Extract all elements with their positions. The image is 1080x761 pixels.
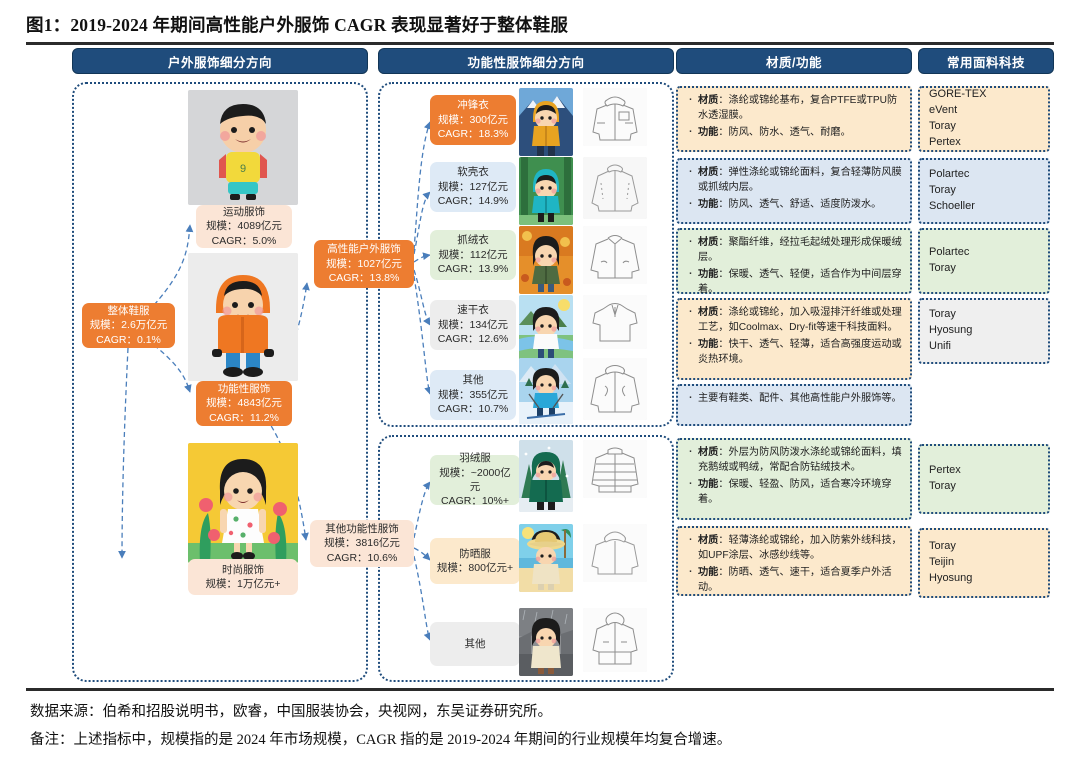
material-card-other: 主要有鞋类、配件、其他高性能户外服饰等。 <box>676 384 912 426</box>
sketch-softshell-jacket <box>583 157 647 219</box>
material-item: 材质：涤纶或锦纶，加入吸湿排汗纤维或处理工艺，如Coolmax、Dry-fit等… <box>686 306 903 335</box>
sketch-sun-protection-jacket <box>583 524 647 582</box>
brand: Unifi <box>929 339 1039 355</box>
material-list: 材质：涤纶或锦纶，加入吸湿排汗纤维或处理工艺，如Coolmax、Dry-fit等… <box>686 306 903 368</box>
node-scale: 规模：800亿元+ <box>437 561 513 575</box>
node-scale: 规模：134亿元 <box>438 318 508 332</box>
node-cagr: CAGR：11.2% <box>209 411 279 425</box>
brand: Toray <box>929 479 1039 495</box>
node-title: 运动服饰 <box>223 205 265 219</box>
node-cagr: CAGR：10.7% <box>438 402 509 416</box>
material-item: 材质：聚酯纤维，经拉毛起绒处理形成保暖绒层。 <box>686 236 903 265</box>
column-header-fabric-tech: 常用面料科技 <box>918 48 1054 74</box>
material-item: 材质：弹性涤纶或锦纶面料，复合轻薄防风膜或抓绒内层。 <box>686 166 903 195</box>
tech-card-hardshell: GORE-TEX eVent Toray Pertex <box>918 86 1050 152</box>
brand: Pertex <box>929 463 1039 479</box>
brand: Teijin <box>929 555 1039 571</box>
thumbnail-fashion-apparel <box>188 443 298 563</box>
brand: Hyosung <box>929 571 1039 587</box>
sketch-down-jacket <box>583 440 647 498</box>
tech-card-fleece: Polartec Toray <box>918 228 1050 294</box>
brand: Toray <box>929 261 1039 277</box>
title-divider <box>26 42 1054 45</box>
column-header-outdoor: 户外服饰细分方向 <box>72 48 368 74</box>
material-card-quickdry: 材质：涤纶或锦纶，加入吸湿排汗纤维或处理工艺，如Coolmax、Dry-fit等… <box>676 298 912 380</box>
material-list: 材质：轻薄涤纶或锦纶，加入防紫外线科技，如UPF涂层、冰感纱线等。功能：防晒、透… <box>686 534 903 596</box>
node-total-footwear-apparel: 整体鞋服 规模：2.6万亿元 CAGR：0.1% <box>82 303 175 348</box>
sketch-other-jacket <box>583 358 647 420</box>
node-scale: 规模：1万亿元+ <box>206 577 281 591</box>
node-scale: 规模：112亿元 <box>438 248 507 262</box>
node-cagr: CAGR：14.9% <box>438 194 509 208</box>
material-list: 材质：涤纶或锦纶基布，复合PTFE或TPU防水透湿膜。功能：防风、防水、透气、耐… <box>686 94 903 141</box>
material-list: 材质：弹性涤纶或锦纶面料，复合轻薄防风膜或抓绒内层。功能：防风、透气、舒适、适度… <box>686 166 903 213</box>
svg-text:9: 9 <box>240 163 246 175</box>
node-hardshell-jacket: 冲锋衣 规模：300亿元 CAGR：18.3% <box>430 95 516 145</box>
material-card-down: 材质：外层为防风防泼水涤纶或锦纶面料，填充鹅绒或鸭绒，常配合防钻绒技术。功能：保… <box>676 438 912 520</box>
brand: Polartec <box>929 245 1039 261</box>
material-list: 材质：聚酯纤维，经拉毛起绒处理形成保暖绒层。功能：保暖、透气、轻便，适合作为中间… <box>686 236 903 298</box>
material-item: 主要有鞋类、配件、其他高性能户外服饰等。 <box>686 392 903 407</box>
node-other-functional-apparel: 其他功能性服饰 规模：3816亿元 CAGR：10.6% <box>310 520 414 567</box>
material-item: 材质：涤纶或锦纶基布，复合PTFE或TPU防水透湿膜。 <box>686 94 903 123</box>
node-other-functional-child: 其他 <box>430 622 520 666</box>
tech-card-down: Pertex Toray <box>918 444 1050 514</box>
material-item: 功能：防晒、透气、速干，适合夏季户外活动。 <box>686 566 903 595</box>
material-card-sun-protection: 材质：轻薄涤纶或锦纶，加入防紫外线科技，如UPF涂层、冰感纱线等。功能：防晒、透… <box>676 526 912 596</box>
node-sports-apparel: 运动服饰 规模：4089亿元 CAGR：5.0% <box>196 205 292 248</box>
tech-card-softshell: Polartec Toray Schoeller <box>918 158 1050 224</box>
node-title: 功能性服饰 <box>218 382 271 396</box>
node-cagr: CAGR：12.6% <box>438 332 509 346</box>
node-cagr: CAGR：0.1% <box>96 333 161 347</box>
node-cagr: CAGR：13.9% <box>438 262 509 276</box>
sketch-hardshell-jacket <box>583 88 647 146</box>
footer-note: 备注：上述指标中，规模指的是 2024 年市场规模，CAGR 指的是 2019-… <box>30 728 731 749</box>
brand: Toray <box>929 539 1039 555</box>
material-item: 材质：外层为防风防泼水涤纶或锦纶面料，填充鹅绒或鸭绒，常配合防钻绒技术。 <box>686 446 903 475</box>
thumbnail-functional-apparel <box>188 253 298 381</box>
node-title: 防晒服 <box>459 547 491 561</box>
thumbnail-quickdry-photo <box>519 295 573 363</box>
node-title: 其他 <box>465 637 486 651</box>
brand: Hyosung <box>929 323 1039 339</box>
column-header-functional: 功能性服饰细分方向 <box>378 48 674 74</box>
brand: Toray <box>929 307 1039 323</box>
column-header-material: 材质/功能 <box>676 48 912 74</box>
footer-source: 数据来源：伯希和招股说明书，欧睿，中国服装协会，央视网，东吴证券研究所。 <box>30 700 552 721</box>
node-title: 其他功能性服饰 <box>325 522 399 536</box>
tech-card-sun-protection: Toray Teijin Hyosung <box>918 528 1050 598</box>
thumbnail-down-jacket-photo <box>519 440 573 512</box>
node-title: 其他 <box>463 373 484 387</box>
brand: Toray <box>929 119 1039 135</box>
material-item: 功能：保暖、轻盈、防风，适合寒冷环境穿着。 <box>686 478 903 507</box>
sketch-quickdry-shirt <box>583 295 647 349</box>
tech-card-quickdry: Toray Hyosung Unifi <box>918 298 1050 364</box>
material-list: 主要有鞋类、配件、其他高性能户外服饰等。 <box>686 392 903 407</box>
sketch-raincoat <box>583 608 647 672</box>
node-sun-protection-apparel: 防晒服 规模：800亿元+ <box>430 538 520 584</box>
thumbnail-fleece-photo <box>519 226 573 294</box>
node-scale: 规模：355亿元 <box>438 388 508 402</box>
node-cagr: CAGR：10.6% <box>327 551 398 565</box>
material-item: 功能：保暖、透气、轻便，适合作为中间层穿着。 <box>686 268 903 297</box>
node-scale: 规模：3816亿元 <box>324 536 400 550</box>
node-quick-dry-shirt: 速干衣 规模：134亿元 CAGR：12.6% <box>430 300 516 350</box>
thumbnail-softshell-photo <box>519 157 573 225</box>
sketch-fleece-jacket <box>583 226 647 284</box>
node-other-high-perf: 其他 规模：355亿元 CAGR：10.7% <box>430 370 516 420</box>
node-high-performance-outdoor: 高性能户外服饰 规模：1027亿元 CAGR：13.8% <box>314 240 414 288</box>
node-functional-apparel: 功能性服饰 规模：4843亿元 CAGR：11.2% <box>196 381 292 426</box>
node-title: 时尚服饰 <box>222 563 264 577</box>
node-down-jacket: 羽绒服 规模：~2000亿元 CAGR：10%+ <box>430 455 520 505</box>
node-fleece-jacket: 抓绒衣 规模：112亿元 CAGR：13.9% <box>430 230 516 280</box>
material-card-hardshell: 材质：涤纶或锦纶基布，复合PTFE或TPU防水透湿膜。功能：防风、防水、透气、耐… <box>676 86 912 152</box>
node-softshell-jacket: 软壳衣 规模：127亿元 CAGR：14.9% <box>430 162 516 212</box>
brand: Pertex <box>929 135 1039 151</box>
material-item: 功能：防风、防水、透气、耐磨。 <box>686 126 903 141</box>
material-list: 材质：外层为防风防泼水涤纶或锦纶面料，填充鹅绒或鸭绒，常配合防钻绒技术。功能：保… <box>686 446 903 508</box>
material-card-fleece: 材质：聚酯纤维，经拉毛起绒处理形成保暖绒层。功能：保暖、透气、轻便，适合作为中间… <box>676 228 912 294</box>
node-title: 抓绒衣 <box>457 233 489 247</box>
node-scale: 规模：4843亿元 <box>206 396 282 410</box>
node-title: 软壳衣 <box>457 165 489 179</box>
node-title: 高性能户外服饰 <box>327 242 401 256</box>
material-item: 功能：快干、透气、轻薄，适合高强度运动或炎热环境。 <box>686 338 903 367</box>
thumbnail-sun-protection-photo <box>519 524 573 592</box>
node-title: 整体鞋服 <box>108 304 150 318</box>
brand: Polartec <box>929 167 1039 183</box>
node-cagr: CAGR：13.8% <box>329 271 400 285</box>
brand: eVent <box>929 103 1039 119</box>
node-scale: 规模：4089亿元 <box>206 219 282 233</box>
node-fashion-apparel: 时尚服饰 规模：1万亿元+ <box>188 559 298 595</box>
node-scale: 规模：~2000亿元 <box>435 466 515 495</box>
node-scale: 规模：300亿元 <box>438 113 508 127</box>
thumbnail-hardshell-photo <box>519 88 573 156</box>
node-title: 冲锋衣 <box>457 98 489 112</box>
material-item: 材质：轻薄涤纶或锦纶，加入防紫外线科技，如UPF涂层、冰感纱线等。 <box>686 534 903 563</box>
material-item: 功能：防风、透气、舒适、适度防泼水。 <box>686 198 903 213</box>
footer-divider <box>26 688 1054 691</box>
node-scale: 规模：2.6万亿元 <box>90 318 168 332</box>
page-title: 图1：2019-2024 年期间高性能户外服饰 CAGR 表现显著好于整体鞋服 <box>26 12 568 37</box>
thumbnail-other-bottom-photo <box>519 608 573 676</box>
node-cagr: CAGR：5.0% <box>212 234 277 248</box>
node-scale: 规模：1027亿元 <box>326 257 402 271</box>
node-cagr: CAGR：10%+ <box>441 494 509 508</box>
brand: Toray <box>929 183 1039 199</box>
thumbnail-sports-apparel: 9 <box>188 90 298 205</box>
brand: Schoeller <box>929 199 1039 215</box>
node-title: 速干衣 <box>457 303 489 317</box>
node-cagr: CAGR：18.3% <box>438 127 509 141</box>
node-title: 羽绒服 <box>459 451 491 465</box>
material-card-softshell: 材质：弹性涤纶或锦纶面料，复合轻薄防风膜或抓绒内层。功能：防风、透气、舒适、适度… <box>676 158 912 224</box>
node-scale: 规模：127亿元 <box>438 180 508 194</box>
brand: GORE-TEX <box>929 87 1039 103</box>
thumbnail-other-photo <box>519 358 573 424</box>
